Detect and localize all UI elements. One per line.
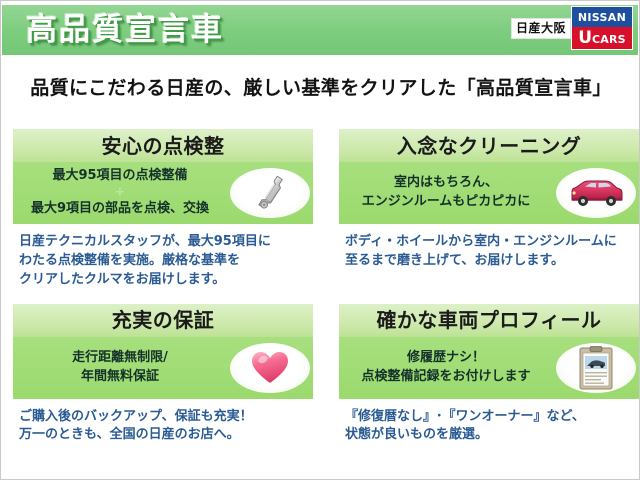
feature-panel-inspection: 安心の点検整 最大95項目の点検整備 + 最大9項目の部品を点検、交換 (13, 129, 313, 290)
panel-heading-bar: 安心の点検整 (13, 129, 313, 162)
panel-body-text: 最大95項目の点検整備 + 最大9項目の部品を点検、交換 (13, 162, 227, 224)
car-icon (565, 176, 627, 210)
ucars-wordmark: UCARS (572, 27, 632, 49)
panel-heading: 充実の保証 (112, 310, 215, 330)
ucars-u-letter: U (578, 30, 592, 47)
note-line: 日産テクニカルスタッフが、最大95項目に (19, 233, 311, 252)
body-line: 最大95項目の点検整備 (52, 167, 187, 186)
panel-body: 走行距離無制限/ 年間無料保証 (13, 337, 313, 399)
body-line: 点検整備記録をお付けします (361, 368, 530, 387)
ucars-cars-letters: CARS (592, 34, 626, 45)
panel-note: ご購入後のバックアップ、保証も充実！ 万一のときも、全国の日産のお店へ。 (13, 399, 313, 446)
panel-heading: 安心の点検整 (102, 136, 225, 156)
panel-heading: 確かな車両プロフィール (376, 310, 601, 330)
panel-heading-bar: 充実の保証 (13, 304, 313, 337)
heart-icon (250, 350, 290, 386)
panel-heading-bar: 確かな車両プロフィール (339, 304, 639, 337)
panel-icon-box (553, 337, 639, 399)
brand-block: 日産大阪 NISSAN UCARS (511, 6, 633, 50)
note-line: 状態が良いものを厳選。 (345, 426, 637, 445)
panel-note: 日産テクニカルスタッフが、最大95項目に わたる点検整備を実施。厳格な基準を ク… (13, 224, 313, 290)
panel-icon-box (553, 162, 639, 224)
feature-panel-warranty: 充実の保証 走行距離無制限/ 年間無料保証 (13, 304, 313, 446)
panel-body-text: 走行距離無制限/ 年間無料保証 (13, 337, 227, 399)
dealer-name: 日産大阪 (511, 18, 571, 39)
body-line: 修履歴ナシ！ (407, 349, 485, 368)
feature-grid: 安心の点検整 最大95項目の点検整備 + 最大9項目の部品を点検、交換 (13, 129, 629, 445)
panel-body: 最大95項目の点検整備 + 最大9項目の部品を点検、交換 (13, 162, 313, 224)
note-line: わたる点検整備を実施。厳格な基準を (19, 252, 311, 271)
plus-separator: + (115, 186, 126, 200)
note-line: 『修復暦なし』･『ワンオーナー』など、 (345, 408, 637, 427)
page-title: 高品質宣言車 (26, 15, 224, 46)
panel-icon-box (227, 337, 313, 399)
panel-body: 修履歴ナシ！ 点検整備記録をお付けします (339, 337, 639, 399)
note-line: ボディ・ホイールから室内・エンジンルームに (345, 233, 637, 252)
note-line: 万一のときも、全国の日産のお店へ。 (19, 426, 311, 445)
panel-body-text: 室内はもちろん、 エンジンルームもピカピカに (339, 162, 553, 224)
nissan-ucars-logo: NISSAN UCARS (571, 6, 633, 50)
panel-note: ボディ・ホイールから室内・エンジンルームに 至るまで磨き上げて、お届けします。 (339, 224, 639, 271)
body-line: 室内はもちろん、 (394, 174, 498, 193)
feature-panel-cleaning: 入念なクリーニング 室内はもちろん、 エンジンルームもピカピカに (329, 129, 639, 290)
panel-note: 『修復暦なし』･『ワンオーナー』など、 状態が良いものを厳選。 (339, 399, 639, 446)
panel-body: 室内はもちろん、 エンジンルームもピカピカに (339, 162, 639, 224)
body-line: 年間無料保証 (81, 368, 159, 387)
wrench-icon (247, 171, 293, 215)
clipboard-icon (578, 345, 614, 391)
feature-panel-profile: 確かな車両プロフィール 修履歴ナシ！ 点検整備記録をお付けします (329, 304, 639, 446)
note-line: 至るまで磨き上げて、お届けします。 (345, 252, 637, 271)
body-line: 走行距離無制限/ (72, 349, 168, 368)
note-line: ご購入後のバックアップ、保証も充実！ (19, 408, 311, 427)
panel-icon-box (227, 162, 313, 224)
panel-heading: 入念なクリーニング (397, 136, 582, 156)
body-line: 最大9項目の部品を点検、交換 (31, 200, 209, 219)
nissan-wordmark: NISSAN (572, 7, 632, 27)
body-line: エンジンルームもピカピカに (362, 193, 531, 212)
note-line: クリアしたクルマをお届けします。 (19, 271, 311, 290)
panel-body-text: 修履歴ナシ！ 点検整備記録をお付けします (339, 337, 553, 399)
panel-heading-bar: 入念なクリーニング (339, 129, 639, 162)
promo-canvas: 高品質宣言車 日産大阪 NISSAN UCARS 品質にこだわる日産の、厳しい基… (0, 0, 640, 480)
subtitle: 品質にこだわる日産の、厳しい基準をクリアした「高品質宣言車」 (1, 73, 640, 100)
